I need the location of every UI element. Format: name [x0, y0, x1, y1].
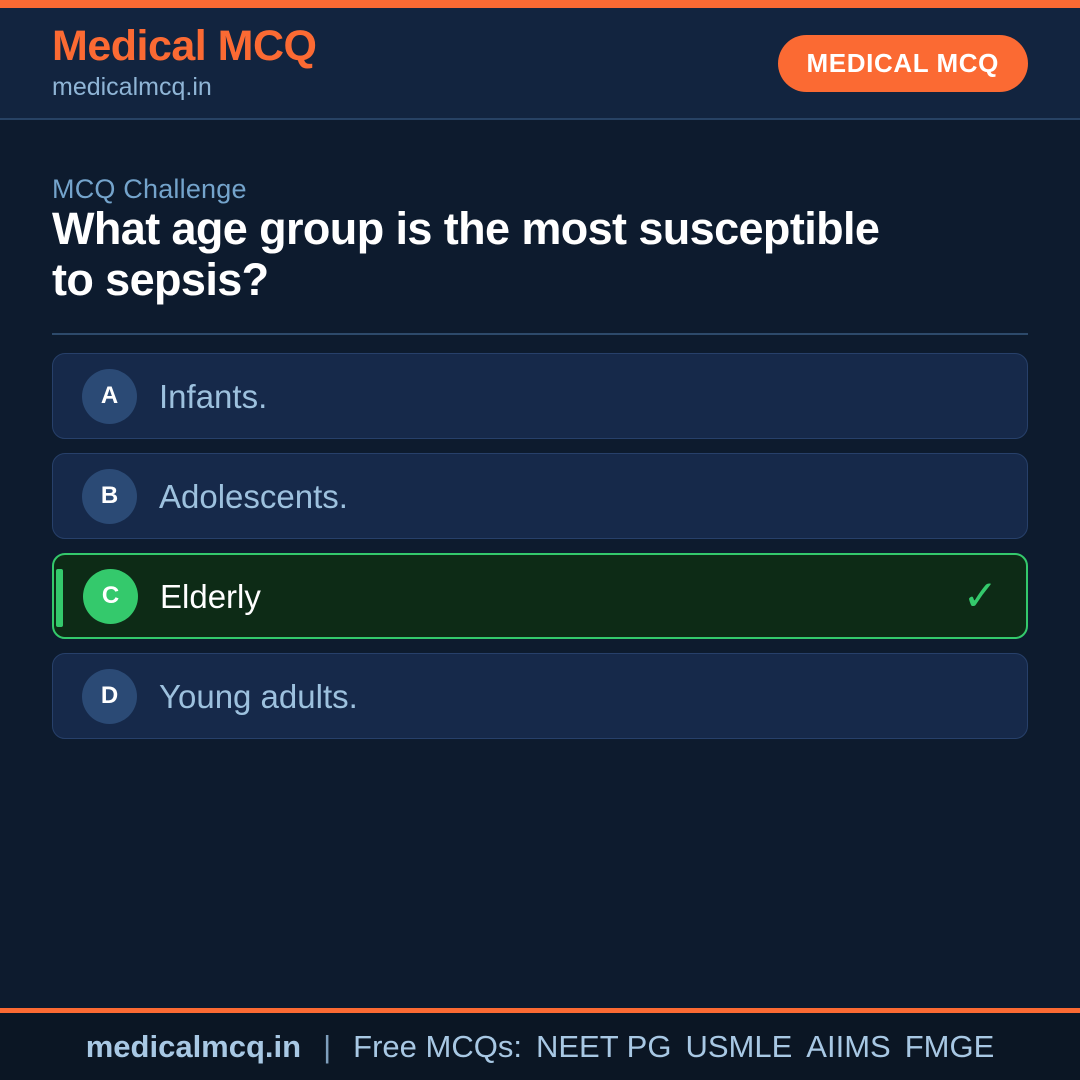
option-b[interactable]: B Adolescents.	[52, 453, 1028, 539]
page-header: Medical MCQ medicalmcq.in MEDICAL MCQ	[0, 8, 1080, 120]
page-footer: medicalmcq.in | Free MCQs: NEET PG USMLE…	[0, 1013, 1080, 1080]
brand-title: Medical MCQ	[52, 23, 317, 69]
option-label: Elderly	[160, 580, 261, 613]
footer-exam-neet-pg[interactable]: NEET PG	[536, 1029, 672, 1065]
checkmark-icon: ✓	[963, 575, 998, 617]
option-label: Infants.	[159, 380, 267, 413]
footer-inner: medicalmcq.in | Free MCQs: NEET PG USMLE…	[86, 1029, 995, 1065]
footer-exam-aiims[interactable]: AIIMS	[806, 1029, 890, 1065]
options-list: A Infants. B Adolescents. C Elderly ✓ D …	[52, 353, 1028, 739]
question-text: What age group is the most susceptible t…	[52, 203, 932, 306]
option-letter-badge: C	[83, 569, 138, 624]
header-badge[interactable]: MEDICAL MCQ	[778, 35, 1028, 92]
option-label: Young adults.	[159, 680, 358, 713]
option-letter-badge: D	[82, 669, 137, 724]
top-accent-bar	[0, 0, 1080, 8]
eyebrow-label: MCQ Challenge	[52, 174, 247, 205]
option-label: Adolescents.	[159, 480, 348, 513]
correct-accent-bar	[56, 569, 63, 627]
brand-block: Medical MCQ medicalmcq.in	[52, 23, 317, 103]
option-a[interactable]: A Infants.	[52, 353, 1028, 439]
option-letter-badge: A	[82, 369, 137, 424]
footer-site-link[interactable]: medicalmcq.in	[86, 1029, 301, 1065]
footer-exam-fmge[interactable]: FMGE	[905, 1029, 995, 1065]
question-divider	[52, 333, 1028, 335]
brand-subtitle: medicalmcq.in	[52, 72, 317, 103]
footer-exam-usmle[interactable]: USMLE	[685, 1029, 792, 1065]
option-c[interactable]: C Elderly ✓	[52, 553, 1028, 639]
option-letter-badge: B	[82, 469, 137, 524]
footer-label: Free MCQs:	[353, 1029, 522, 1065]
option-d[interactable]: D Young adults.	[52, 653, 1028, 739]
footer-separator: |	[323, 1029, 331, 1065]
